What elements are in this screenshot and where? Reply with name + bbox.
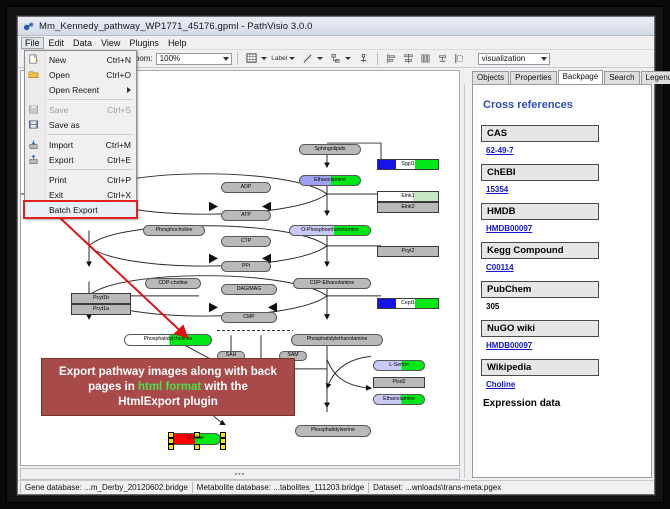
grid-dropdown-icon[interactable]	[261, 57, 267, 60]
gene-label: Pcyt1a	[93, 307, 109, 312]
menu-item-save[interactable]: SaveCtrl+S	[25, 102, 136, 117]
pathvisio-icon	[23, 21, 34, 32]
menu-item-open[interactable]: OpenCtrl+O	[25, 67, 136, 82]
status-metabolite-database: Metabolite database: ...tabolites_111203…	[192, 482, 368, 493]
metabolite-label: Ethanolamine	[314, 178, 346, 183]
label-dropdown-icon[interactable]	[289, 57, 295, 60]
metabolite-label: CMP	[243, 315, 255, 320]
xref-link[interactable]: HMDB00097	[486, 224, 532, 233]
toolbar-separator-2	[377, 52, 378, 65]
tab-legend[interactable]: Legend	[641, 71, 670, 84]
xref-name: CAS	[481, 125, 599, 142]
cross-reference-list: CAS62-49-7ChEBI15354HMDBHMDB00097Kegg Co…	[481, 125, 645, 389]
metabolite-node[interactable]: Ethanolamine	[299, 175, 361, 186]
metabolite-node[interactable]: DAG/MAG	[221, 284, 277, 295]
xref-name: NuGO wiki	[481, 320, 599, 337]
metabolite-node[interactable]: Ethanolamine	[373, 394, 425, 405]
save-icon	[28, 104, 40, 115]
gene-node[interactable]: Pcyt1b	[71, 293, 131, 304]
xref-block: HMDBHMDB00097	[481, 203, 645, 233]
interaction-dropdown-icon[interactable]	[345, 57, 351, 60]
status-gene-database: Gene database: ...m_Derby_20120602.bridg…	[20, 482, 192, 493]
metabolite-label: Ethanolamine	[383, 397, 415, 402]
application-window: Mm_Kennedy_pathway_WP1771_45176.gpml - P…	[6, 6, 664, 503]
metabolite-node[interactable]: Phosphatidylserine	[295, 425, 371, 437]
metabolite-label: ADP	[241, 185, 252, 190]
menu-item-accelerator: Ctrl+P	[107, 175, 136, 185]
menu-item-label: Open	[45, 70, 106, 80]
gene-label: Sgpl1	[401, 162, 414, 167]
stack-icon[interactable]	[435, 52, 450, 66]
annotation-callout: Export pathway images along with back pa…	[41, 358, 295, 416]
metabolite-label: Choline	[186, 436, 204, 441]
canvas-horizontal-scrollbar[interactable]: ▪▪▪	[20, 468, 460, 480]
metabolite-label: CDP-choline	[158, 281, 187, 286]
menu-file[interactable]: File	[21, 37, 44, 49]
screenshot-root: Mm_Kennedy_pathway_WP1771_45176.gpml - P…	[0, 0, 670, 509]
xref-value[interactable]: HMDB00097	[481, 220, 645, 233]
line-icon[interactable]	[300, 52, 315, 66]
xref-block: NuGO wikiHMDB00097	[481, 320, 645, 350]
menu-item-accelerator: Ctrl+S	[107, 105, 136, 115]
anchor-icon[interactable]	[356, 52, 371, 66]
gene-node[interactable]: Etnk2	[377, 202, 439, 213]
xref-value[interactable]: C00114	[481, 259, 645, 272]
gene-label: Etnk1	[401, 194, 414, 199]
xref-link[interactable]: HMDB00097	[486, 341, 532, 350]
tab-properties[interactable]: Properties	[510, 71, 556, 84]
gene-label: Pcyt1b	[93, 296, 109, 301]
label-icon[interactable]: Label	[272, 52, 287, 66]
menu-item-accelerator: Ctrl+E	[107, 155, 136, 165]
new-file-icon	[28, 54, 40, 65]
xref-block: PubChem305	[481, 281, 645, 311]
gene-node[interactable]: Sgpl1	[377, 159, 439, 170]
xref-name: Kegg Compound	[481, 242, 599, 259]
align-center-icon[interactable]	[401, 52, 416, 66]
metabolite-label: L-Serine	[389, 363, 409, 368]
metabolite-label: Phosphatidylserine	[311, 428, 355, 433]
xref-value[interactable]: HMDB00097	[481, 337, 645, 350]
chevron-down-icon	[223, 57, 229, 61]
tab-backpage[interactable]: Backpage	[558, 70, 604, 84]
menu-item-save-as[interactable]: Save as	[25, 117, 136, 132]
menu-item-label: New	[45, 55, 107, 65]
toolbar-separator	[237, 52, 238, 65]
interaction-icon[interactable]	[328, 52, 343, 66]
file-menu-dropdown[interactable]: NewCtrl+NOpenCtrl+OOpen RecentSaveCtrl+S…	[24, 50, 137, 219]
callout-line2b: with the	[201, 381, 248, 393]
gene-node[interactable]: Cept1	[377, 298, 439, 309]
menu-item-label: Open Recent	[45, 85, 127, 95]
menu-separator	[47, 99, 133, 100]
metabolite-label: Phosphocholine	[156, 228, 193, 233]
xref-link[interactable]: Choline	[486, 380, 515, 389]
menu-item-accelerator: Ctrl+M	[106, 140, 136, 150]
window-title: Mm_Kennedy_pathway_WP1771_45176.gpml - P…	[39, 21, 313, 32]
cross-references-title: Cross references	[483, 99, 645, 111]
submenu-arrow-icon	[127, 87, 131, 93]
menu-item-accelerator: Ctrl+N	[107, 55, 136, 65]
menu-view[interactable]: View	[97, 37, 124, 49]
menu-item-import[interactable]: ImportCtrl+M	[25, 137, 136, 152]
metabolite-label: Sphingolipids	[315, 147, 346, 152]
menu-item-print[interactable]: PrintCtrl+P	[25, 172, 136, 187]
visualization-value: visualization	[482, 54, 526, 63]
status-bar: Gene database: ...m_Derby_20120602.bridg…	[18, 480, 654, 494]
menu-item-exit[interactable]: ExitCtrl+X	[25, 187, 136, 202]
side-panel-rail	[464, 84, 472, 478]
selection-handle[interactable]	[168, 444, 174, 450]
menu-plugins[interactable]: Plugins	[125, 37, 163, 49]
menu-item-label: Save as	[45, 120, 131, 130]
xref-link[interactable]: 62-49-7	[486, 146, 514, 155]
scrollbar-grip: ▪▪▪	[235, 471, 245, 478]
metabolite-label: Phosphatidylethanolamine	[307, 337, 368, 342]
metabolite-node[interactable]: Phosphocholine	[143, 225, 205, 236]
xref-name: ChEBI	[481, 164, 599, 181]
xref-name: PubChem	[481, 281, 599, 298]
export-icon	[28, 154, 40, 165]
xref-value[interactable]: Choline	[481, 376, 645, 389]
menu-edit[interactable]: Edit	[45, 37, 69, 49]
import-icon	[28, 139, 40, 150]
metabolite-label: Phosphatidylcholines	[144, 337, 193, 342]
zoom-value: 100%	[160, 54, 180, 63]
menu-item-export[interactable]: ExportCtrl+E	[25, 152, 136, 167]
grid-icon[interactable]	[244, 52, 259, 66]
side-panel: Objects Properties Backpage Search Legen…	[464, 70, 652, 478]
callout-line3: HtmlExport plugin	[118, 396, 218, 408]
metabolite-node[interactable]: CMP	[221, 312, 277, 323]
gene-label: Pcyt2	[402, 249, 415, 254]
metabolite-label: CTP	[241, 239, 251, 244]
xref-name: HMDB	[481, 203, 599, 220]
metabolite-node[interactable]: CTP	[221, 236, 271, 247]
align-left-icon[interactable]	[384, 52, 399, 66]
metabolite-node[interactable]: Phosphatidylcholines	[124, 334, 212, 346]
metabolite-label: DAG/MAG	[237, 287, 262, 292]
xref-name: Wikipedia	[481, 359, 599, 376]
expression-data-title: Expression data	[483, 398, 645, 409]
tab-objects[interactable]: Objects	[472, 71, 509, 84]
metabolite-node[interactable]: CDP-choline	[145, 278, 201, 289]
distribute-icon[interactable]	[418, 52, 433, 66]
menu-item-label: Batch Export	[45, 205, 131, 215]
menu-item-label: Export	[45, 155, 107, 165]
menu-item-new[interactable]: NewCtrl+N	[25, 52, 136, 67]
callout-line2a: pages in	[88, 381, 138, 393]
gene-label: Cept1	[401, 301, 415, 306]
tab-search[interactable]: Search	[604, 71, 639, 84]
backpage-scroll[interactable]: Cross references CAS62-49-7ChEBI15354HMD…	[473, 85, 651, 477]
window-inner-frame: Mm_Kennedy_pathway_WP1771_45176.gpml - P…	[17, 16, 655, 495]
xref-value[interactable]: 62-49-7	[481, 142, 645, 155]
zoom-combo[interactable]: 100%	[156, 53, 232, 65]
menu-item-batch-export[interactable]: Batch Export	[25, 202, 136, 217]
title-bar: Mm_Kennedy_pathway_WP1771_45176.gpml - P…	[18, 17, 654, 36]
label-button-text: Label	[271, 55, 287, 62]
metabolite-node[interactable]: O-Phosphoethanolamine	[289, 225, 371, 236]
visualization-combo[interactable]: visualization	[478, 53, 550, 65]
status-dataset: Dataset: ...wnloads\trans-meta.pgex	[368, 482, 505, 493]
menu-item-label: Exit	[45, 190, 107, 200]
xref-block: CAS62-49-7	[481, 125, 645, 155]
group-icon[interactable]	[452, 52, 467, 66]
gene-node[interactable]: Pcyt1a	[71, 304, 131, 315]
callout-line1: Export pathway images along with back	[59, 366, 277, 378]
metabolite-node[interactable]: Sphingolipids	[299, 144, 361, 155]
save-as-icon	[28, 119, 40, 130]
xref-block: WikipediaCholine	[481, 359, 645, 389]
menu-data[interactable]: Data	[69, 37, 96, 49]
metabolite-label: CDP-Ethanolamine	[310, 281, 354, 286]
side-panel-tabs[interactable]: Objects Properties Backpage Search Legen…	[472, 70, 652, 84]
selection-handle[interactable]	[194, 444, 200, 450]
chevron-down-icon-2	[541, 57, 547, 61]
gene-node[interactable]: Etnk1	[377, 191, 439, 202]
menu-item-accelerator: Ctrl+X	[107, 190, 136, 200]
menu-separator	[47, 134, 133, 135]
selection-handle[interactable]	[220, 444, 226, 450]
menu-item-label: Print	[45, 175, 107, 185]
metabolite-node[interactable]: Phosphatidylethanolamine	[291, 334, 383, 346]
gene-node[interactable]: Pcyt2	[377, 246, 439, 257]
gene-label: Pisd2	[393, 380, 406, 385]
menu-item-label: Import	[45, 140, 106, 150]
menu-item-label: Save	[45, 105, 107, 115]
xref-block: Kegg CompoundC00114	[481, 242, 645, 272]
menu-item-accelerator: Ctrl+O	[106, 70, 136, 80]
open-folder-icon	[28, 69, 40, 80]
gene-node[interactable]: Pisd2	[373, 377, 425, 388]
xref-link[interactable]: 15354	[486, 185, 508, 194]
metabolite-node[interactable]: PPi	[221, 261, 271, 272]
menu-bar[interactable]: File Edit Data View Plugins Help	[18, 36, 654, 50]
gene-label: Etnk2	[401, 205, 414, 210]
callout-line2-highlight: html format	[138, 381, 201, 393]
xref-value[interactable]: 15354	[481, 181, 645, 194]
menu-separator	[47, 169, 133, 170]
backpage-panel: Cross references CAS62-49-7ChEBI15354HMD…	[472, 84, 652, 478]
metabolite-node[interactable]: Choline	[169, 433, 221, 445]
metabolite-label: ATP	[241, 213, 251, 218]
metabolite-node[interactable]: ATP	[221, 210, 271, 221]
metabolite-node[interactable]: ADP	[221, 182, 271, 193]
metabolite-label: PPi	[242, 264, 250, 269]
line-dropdown-icon[interactable]	[317, 57, 323, 60]
metabolite-node[interactable]: L-Serine	[373, 360, 425, 371]
xref-link[interactable]: C00114	[486, 263, 514, 272]
xref-value: 305	[481, 298, 645, 311]
menu-help[interactable]: Help	[164, 37, 191, 49]
menu-item-open-recent[interactable]: Open Recent	[25, 82, 136, 97]
metabolite-label: O-Phosphoethanolamine	[301, 228, 358, 233]
xref-block: ChEBI15354	[481, 164, 645, 194]
metabolite-node[interactable]: CDP-Ethanolamine	[293, 278, 371, 289]
